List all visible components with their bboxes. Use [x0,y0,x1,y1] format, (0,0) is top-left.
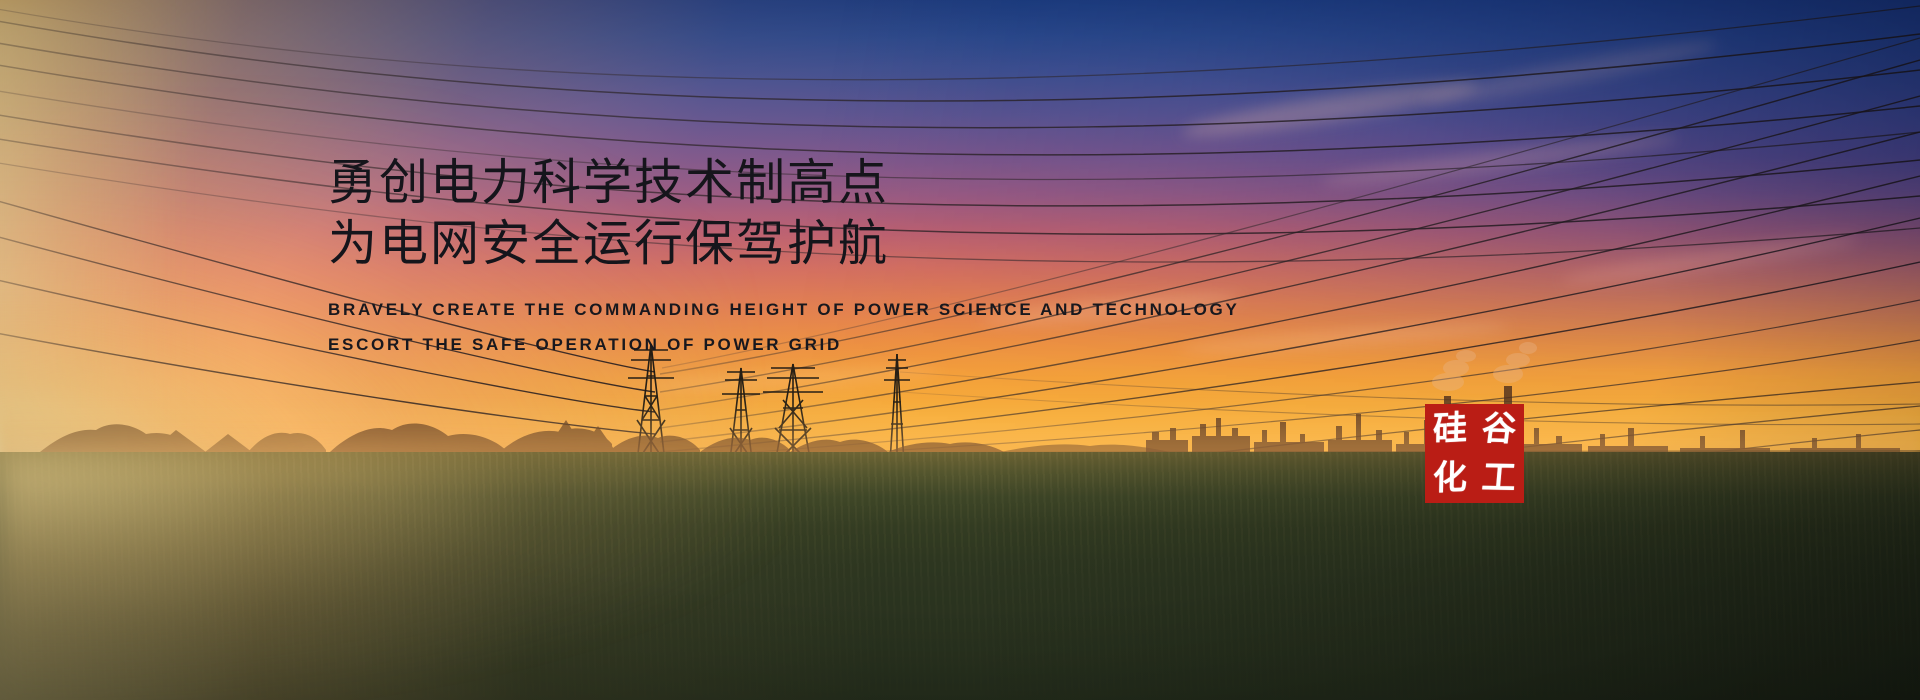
seal-char-2: 谷 [1480,411,1518,446]
seal-char-1: 硅 [1432,411,1467,447]
seal-char-4: 工 [1481,461,1518,496]
seal-characters: 硅 谷 化 工 [1425,404,1524,503]
hero-copy: 勇创电力科学技术制高点 为电网安全运行保驾护航 BRAVELY CREATE T… [328,152,1228,362]
company-seal-logo[interactable]: 硅 谷 化 工 [1425,404,1524,503]
subtitle-line-1: BRAVELY CREATE THE COMMANDING HEIGHT OF … [328,292,1228,327]
seal-char-3: 化 [1432,461,1467,496]
hero-banner: 勇创电力科学技术制高点 为电网安全运行保驾护航 BRAVELY CREATE T… [0,0,1920,700]
headline-line-2: 为电网安全运行保驾护航 [328,213,1228,274]
field-sunlight [0,452,780,700]
headline-line-1: 勇创电力科学技术制高点 [328,152,1228,213]
subtitle-line-2: ESCORT THE SAFE OPERATION OF POWER GRID [328,327,1228,362]
